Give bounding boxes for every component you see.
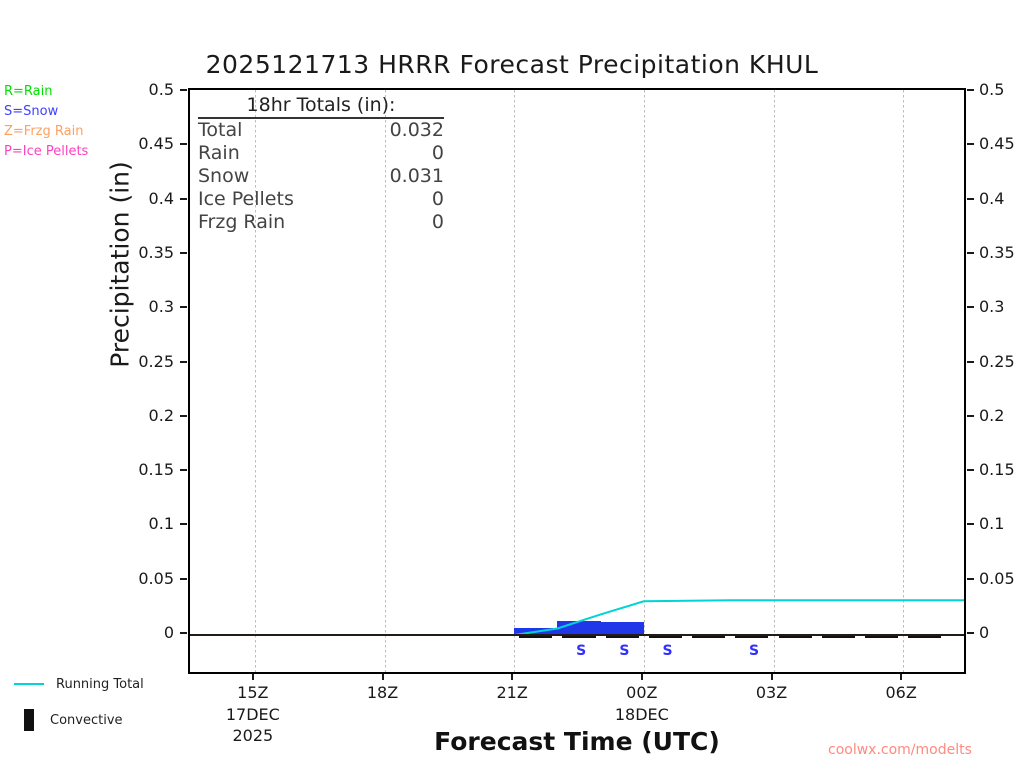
y-axis-tick — [967, 89, 974, 91]
y-axis-tick — [180, 361, 187, 363]
x-axis-tick-label: 00Z — [602, 683, 682, 702]
y-axis-tick — [967, 143, 974, 145]
totals-row-value: 0 — [432, 142, 444, 165]
bar-swatch-icon — [24, 709, 34, 731]
snow-key: S=Snow — [4, 102, 88, 122]
precip-type-marker: S — [749, 643, 759, 659]
y-axis-tick-label-right: 0.4 — [979, 189, 1024, 208]
x-axis-tick — [771, 674, 773, 680]
precip-type-key: R=Rain S=Snow Z=Frzg Rain P=Ice Pellets — [4, 82, 88, 162]
y-axis-tick-label-right: 0.3 — [979, 297, 1024, 316]
chart-canvas: 2025121713 HRRR Forecast Precipitation K… — [0, 0, 1024, 768]
y-axis-tick — [967, 469, 974, 471]
y-axis-tick-label-right: 0.25 — [979, 352, 1024, 371]
frzg-key: Z=Frzg Rain — [4, 122, 88, 142]
totals-row-label: Total — [198, 119, 242, 142]
y-axis-tick-label-right: 0.45 — [979, 134, 1024, 153]
y-axis-tick — [967, 632, 974, 634]
y-axis-tick — [967, 578, 974, 580]
totals-heading: 18hr Totals (in): — [198, 94, 444, 119]
y-axis-tick-label-left: 0.2 — [98, 406, 174, 425]
y-axis-tick — [967, 415, 974, 417]
y-axis-tick-label-right: 0.15 — [979, 460, 1024, 479]
y-axis-tick-label-right: 0.05 — [979, 569, 1024, 588]
totals-rows: Total0.032Rain0Snow0.031Ice Pellets0Frzg… — [198, 119, 444, 234]
x-axis-tick-label: 06Z — [861, 683, 941, 702]
totals-box: 18hr Totals (in): Total0.032Rain0Snow0.0… — [198, 94, 444, 234]
y-axis-tick — [180, 306, 187, 308]
y-axis-tick-label-right: 0.35 — [979, 243, 1024, 262]
y-axis-tick-label-left: 0.15 — [98, 460, 174, 479]
y-axis-tick — [180, 578, 187, 580]
y-axis-tick — [180, 632, 187, 634]
y-axis-tick — [967, 306, 974, 308]
x-axis-tick — [511, 674, 513, 680]
x-axis-date-label: 17DEC — [208, 705, 298, 724]
totals-row: Frzg Rain0 — [198, 211, 444, 234]
rain-key: R=Rain — [4, 82, 88, 102]
y-axis-tick — [180, 198, 187, 200]
y-axis-tick — [180, 415, 187, 417]
totals-row-value: 0.031 — [390, 165, 444, 188]
precip-type-marker: S — [619, 643, 629, 659]
x-axis-tick-label: 18Z — [343, 683, 423, 702]
y-axis-tick-label-left: 0.3 — [98, 297, 174, 316]
running-total-path — [190, 600, 964, 635]
y-axis-tick — [180, 143, 187, 145]
x-axis-tick — [252, 674, 254, 680]
y-axis-tick-label-left: 0 — [98, 623, 174, 642]
page-title: 2025121713 HRRR Forecast Precipitation K… — [0, 50, 1024, 79]
y-axis-tick — [967, 523, 974, 525]
y-axis-tick-label-left: 0.1 — [98, 514, 174, 533]
y-axis-tick — [967, 252, 974, 254]
totals-row-value: 0 — [432, 211, 444, 234]
totals-row-label: Frzg Rain — [198, 211, 285, 234]
x-axis-tick-label: 03Z — [732, 683, 812, 702]
y-axis-tick-label-right: 0.2 — [979, 406, 1024, 425]
x-axis-tick — [382, 674, 384, 680]
totals-row-value: 0.032 — [390, 119, 444, 142]
totals-row-label: Snow — [198, 165, 249, 188]
x-axis-tick — [641, 674, 643, 680]
ice-key: P=Ice Pellets — [4, 142, 88, 162]
line-swatch-icon — [14, 683, 44, 685]
y-axis-tick-label-left: 0.35 — [98, 243, 174, 262]
totals-row-label: Rain — [198, 142, 240, 165]
x-axis-tick-label: 15Z — [213, 683, 293, 702]
y-axis-tick-label-left: 0.4 — [98, 189, 174, 208]
legend-label-convective: Convective — [50, 713, 123, 728]
totals-row: Total0.032 — [198, 119, 444, 142]
watermark: coolwx.com/modelts — [828, 742, 972, 758]
chart-legend: Running Total Convective — [10, 666, 144, 738]
totals-row: Snow0.031 — [198, 165, 444, 188]
y-axis-tick — [967, 198, 974, 200]
y-axis-tick — [180, 89, 187, 91]
y-axis-tick-label-right: 0.1 — [979, 514, 1024, 533]
plot-area: SSSS 18hr Totals (in): Total0.032Rain0Sn… — [188, 88, 966, 674]
y-axis-tick — [180, 252, 187, 254]
y-axis-tick-label-left: 0.05 — [98, 569, 174, 588]
precip-type-marker: S — [576, 643, 586, 659]
zero-line — [190, 634, 964, 636]
x-axis-date-label: 18DEC — [597, 705, 687, 724]
y-axis-tick — [967, 361, 974, 363]
y-axis-tick — [180, 469, 187, 471]
y-axis-tick-label-right: 0 — [979, 623, 1024, 642]
y-axis-tick — [180, 523, 187, 525]
x-axis-tick-label: 21Z — [472, 683, 552, 702]
totals-row: Rain0 — [198, 142, 444, 165]
totals-row-value: 0 — [432, 188, 444, 211]
precip-type-marker: S — [663, 643, 673, 659]
totals-row-label: Ice Pellets — [198, 188, 294, 211]
legend-item-running-total: Running Total — [10, 666, 144, 702]
y-axis-tick-label-right: 0.5 — [979, 80, 1024, 99]
y-axis-tick-label-left: 0.45 — [98, 134, 174, 153]
y-axis-tick-label-left: 0.5 — [98, 80, 174, 99]
legend-label-running-total: Running Total — [56, 677, 144, 692]
x-axis-date-label: 2025 — [208, 726, 298, 745]
legend-item-convective: Convective — [10, 702, 144, 738]
y-axis-tick-label-left: 0.25 — [98, 352, 174, 371]
x-axis-tick — [900, 674, 902, 680]
totals-row: Ice Pellets0 — [198, 188, 444, 211]
